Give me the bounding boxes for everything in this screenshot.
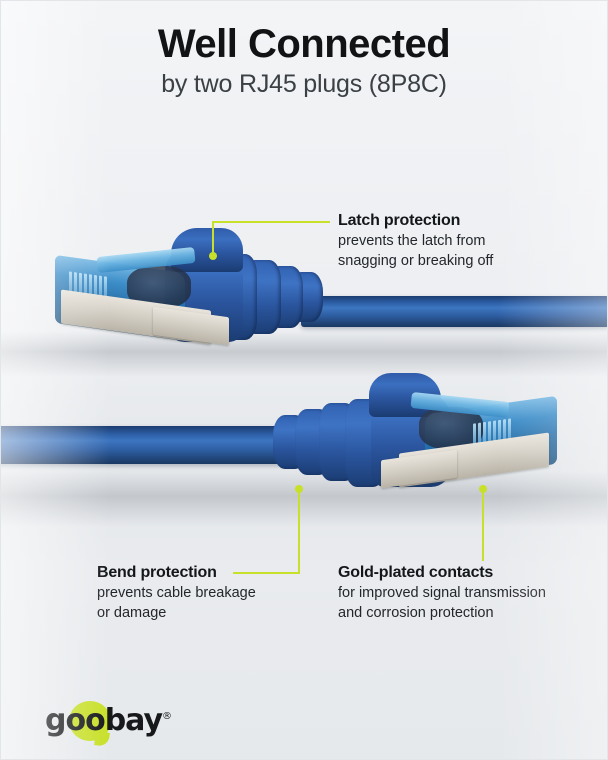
bend-protection-leader-vertical [298, 489, 300, 574]
page-title: Well Connected [1, 23, 607, 65]
registered-trademark-icon: ® [162, 711, 171, 722]
goobay-logo: goobay® [45, 701, 185, 741]
latch-protection-leader-vertical [212, 222, 214, 256]
callout-bend-heading: Bend protection [97, 564, 317, 582]
infographic-page: Well Connected by two RJ45 plugs (8P8C) [0, 0, 608, 760]
logo-wordmark: goobay® [45, 703, 171, 738]
callout-bend-line1: prevents cable breakage [97, 584, 317, 604]
logo-text-value: goobay [45, 703, 162, 738]
page-header: Well Connected by two RJ45 plugs (8P8C) [1, 23, 607, 99]
callout-bend-protection: Bend protection prevents cable breakage … [97, 564, 317, 623]
latch-protection-leader-horizontal [212, 221, 330, 223]
callout-latch-line1: prevents the latch from [338, 232, 588, 252]
callout-bend-line2: or damage [97, 604, 317, 624]
rj45-plug-bottom [259, 371, 559, 496]
callout-latch-protection: Latch protection prevents the latch from… [338, 212, 588, 271]
callout-latch-heading: Latch protection [338, 212, 588, 230]
callout-gold-line1: for improved signal transmission [338, 584, 583, 604]
callout-gold-line2: and corrosion protection [338, 604, 583, 624]
callout-latch-line2: snagging or breaking off [338, 252, 588, 272]
network-cable-bottom [0, 426, 295, 464]
callout-gold-heading: Gold-plated contacts [338, 564, 583, 582]
gold-contacts-leader-vertical [482, 489, 484, 561]
callout-gold-plated-contacts: Gold-plated contacts for improved signal… [338, 564, 583, 623]
rj45-plug-top [53, 226, 353, 361]
page-subtitle: by two RJ45 plugs (8P8C) [1, 70, 607, 99]
